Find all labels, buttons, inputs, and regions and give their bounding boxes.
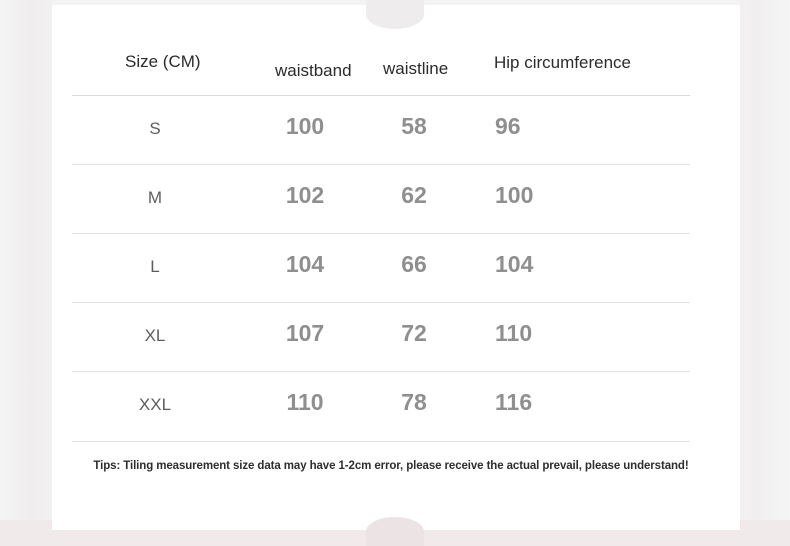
cell-size: S [100,119,210,139]
cell-waistband: 110 [260,389,350,416]
tips-note: Tips: Tiling measurement size data may h… [72,460,710,472]
cell-waistline: 58 [377,113,451,140]
cell-hip: 96 [477,113,587,140]
cell-waistline: 72 [377,320,451,347]
column-header-waistline: waistline [383,59,448,79]
table-row: XXL 110 78 116 [72,372,710,441]
column-header-size: Size (CM) [125,52,201,72]
table-row: S 100 58 96 [72,96,710,164]
cell-size: XXL [100,395,210,415]
cell-waistline: 62 [377,182,451,209]
column-header-hip: Hip circumference [494,53,631,73]
table-row: XL 107 72 110 [72,303,710,371]
size-table: Size (CM) waistband waistline Hip circum… [72,5,710,442]
cell-hip: 104 [477,251,587,278]
background-right-gradient [740,0,790,546]
table-row: M 102 62 100 [72,165,710,233]
cell-waistline: 78 [377,389,451,416]
cell-hip: 110 [477,320,587,347]
column-header-waistband: waistband [275,61,352,81]
cell-waistband: 104 [260,251,350,278]
cell-waistband: 107 [260,320,350,347]
cell-waistband: 100 [260,113,350,140]
table-row: L 104 66 104 [72,234,710,302]
notch-top-icon [366,0,424,29]
cell-size: XL [100,326,210,346]
cell-hip: 100 [477,182,587,209]
size-chart-card: Size (CM) waistband waistline Hip circum… [52,5,740,530]
cell-waistband: 102 [260,182,350,209]
cell-size: L [100,257,210,277]
background-left-gradient [0,0,52,546]
cell-size: M [100,188,210,208]
cell-waistline: 66 [377,251,451,278]
table-divider [72,441,690,442]
notch-bottom-icon [366,517,424,546]
cell-hip: 116 [477,389,587,416]
